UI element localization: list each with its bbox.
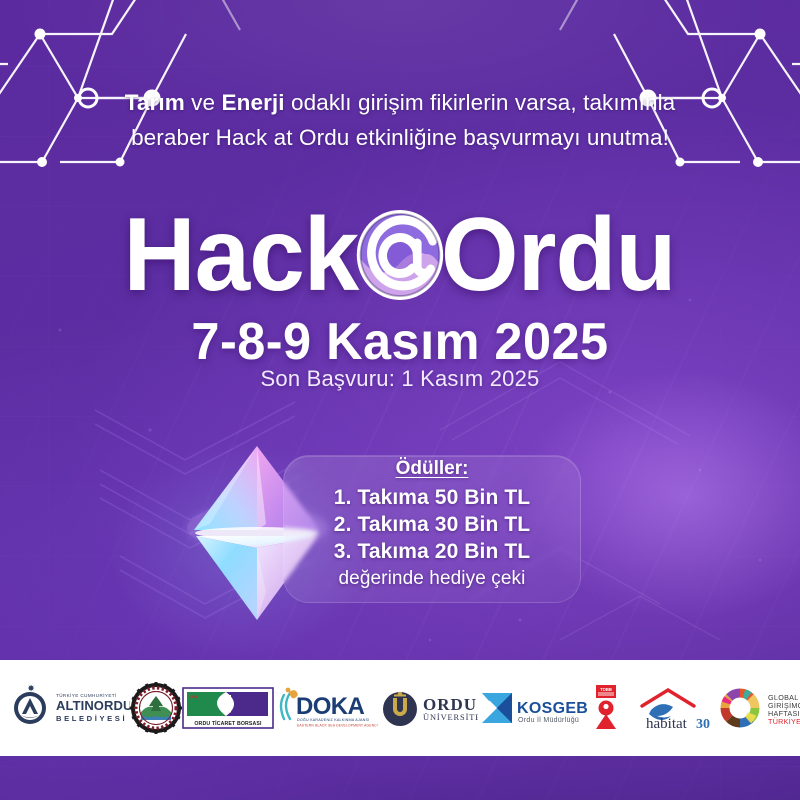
sponsor-logo-altinordu-belediyesi: TÜRKİYE CUMHURİYETİ ALTINORDU BELEDİYESİ xyxy=(14,684,130,732)
application-deadline: Son Başvuru: 1 Kasım 2025 xyxy=(0,366,800,392)
sponsor-logo-habitat: habitat 30 xyxy=(624,684,716,732)
at-symbol-icon xyxy=(350,203,450,307)
sponsor-logo-ordu-universitesi: ORDU ÜNİVERSİTESİ xyxy=(378,685,478,731)
headline-bold-tarim: Tarım xyxy=(125,90,185,115)
sponsor-borsasi-badge: 1936 xyxy=(190,695,198,699)
headline-text: Tarım ve Enerji odaklı girişim fikirleri… xyxy=(50,86,750,156)
sponsor-ordu-uni-title: ORDU xyxy=(423,695,477,714)
headline-line-1: Tarım ve Enerji odaklı girişim fikirleri… xyxy=(50,86,750,121)
sponsor-habitat-badge: 30 xyxy=(696,717,710,732)
prize-item-2: 2. Takıma 30 Bin TL xyxy=(283,512,581,539)
headline-mid: ve xyxy=(185,90,222,115)
sponsor-logo-ordu-ticaret-odasi-seal xyxy=(130,682,182,734)
sponsor-altinordu-title: ALTINORDU xyxy=(56,698,130,713)
event-date: 7-8-9 Kasım 2025 xyxy=(12,312,788,372)
sponsor-ordu-uni-subtitle: ÜNİVERSİTESİ xyxy=(423,713,478,722)
headline-bold-enerji: Enerji xyxy=(222,90,285,115)
sponsor-doka-subtitle: DOĞU KARADENİZ KALKINMA AJANSI xyxy=(297,717,369,722)
hackathon-poster: Tarım ve Enerji odaklı girişim fikirleri… xyxy=(0,0,800,800)
sponsor-borsasi-title: ORDU TİCARET BORSASI xyxy=(194,720,262,727)
sponsor-doka-subtitle-en: EASTERN BLACK SEA DEVELOPMENT AGENCY xyxy=(297,724,378,728)
sponsor-kosgeb-subtitle: Ordu İl Müdürlüğü xyxy=(518,715,579,724)
sponsor-logo-tobb-genclik: TOBB xyxy=(588,683,624,733)
logo-text-hack: Hack xyxy=(124,203,359,307)
sponsor-doka-title: DOKA xyxy=(296,693,365,720)
sponsor-habitat-title: habitat xyxy=(646,716,688,732)
sponsor-logo-ordu-ticaret-borsasi: 1936 ORDU TİCARET BORSASI xyxy=(182,684,274,732)
sponsor-bar: TÜRKİYE CUMHURİYETİ ALTINORDU BELEDİYESİ xyxy=(0,660,800,756)
event-logo: Hack xyxy=(0,195,800,315)
headline-rest: odaklı girişim fikirlerin varsa, takımın… xyxy=(285,90,676,115)
sponsor-logo-global-girisimcilik-haftasi: GLOBAL GİRİŞİMCİLİK HAFTASI TÜRKİYE xyxy=(716,684,800,732)
sponsor-logo-doka: DOKA DOĞU KARADENİZ KALKINMA AJANSI EAST… xyxy=(274,685,378,731)
prize-title: Ödüller: xyxy=(283,458,581,480)
sponsor-kosgeb-title: KOSGEB xyxy=(517,700,588,717)
prize-item-1: 1. Takıma 50 Bin TL xyxy=(283,485,581,512)
prize-content: Ödüller: 1. Takıma 50 Bin TL 2. Takıma 3… xyxy=(283,458,581,590)
sponsor-altinordu-subtitle: BELEDİYESİ xyxy=(56,714,127,723)
sponsor-logo-kosgeb: KOSGEB Ordu İl Müdürlüğü xyxy=(478,685,588,731)
prize-item-3: 3. Takıma 20 Bin TL xyxy=(283,539,581,566)
headline-line-2: beraber Hack at Ordu etkinliğine başvurm… xyxy=(50,121,750,156)
logo-text-ordu: Ordu xyxy=(441,203,676,307)
sponsor-ggh-line4: TÜRKİYE xyxy=(768,717,800,726)
prize-footnote: değerinde hediye çeki xyxy=(283,568,581,590)
sponsor-tobb-title: TOBB xyxy=(600,687,612,692)
